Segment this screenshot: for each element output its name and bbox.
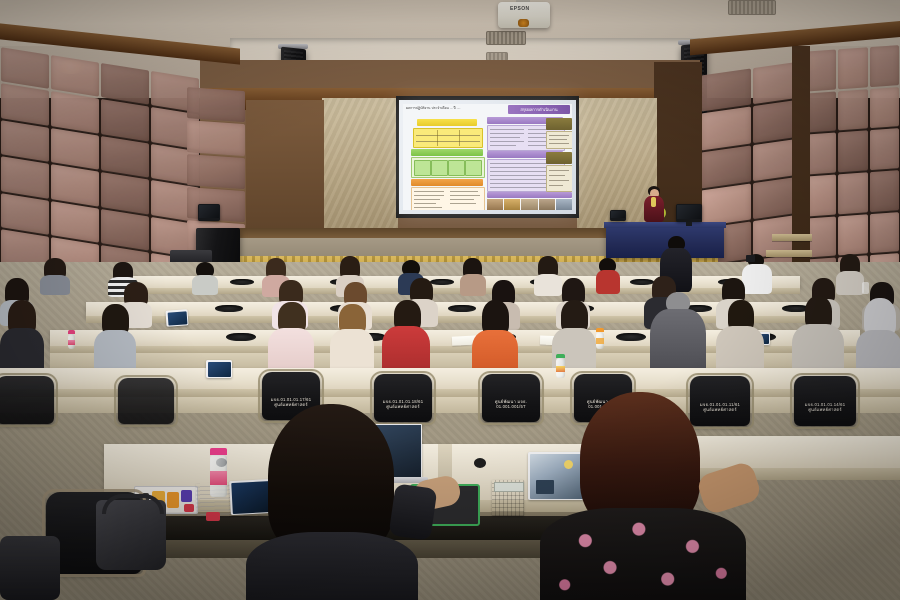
acoustic-panel: [101, 63, 149, 105]
slide-photo: [504, 199, 520, 210]
desk-calculator: [492, 480, 524, 516]
slide-header-text: สรุปผลการดำเนินงาน: [508, 105, 570, 114]
attendee: [40, 258, 70, 292]
foreground-chair-left: [0, 536, 60, 600]
acoustic-panel: [870, 170, 899, 212]
mic-slot: [215, 305, 243, 312]
attendee-headscarf: [856, 298, 900, 378]
red-clip: [184, 504, 194, 512]
acoustic-panel: [838, 47, 867, 89]
chair-tag: มจธ.01.01.01.14/61ศูนย์แพทย์ศาสตร์: [794, 402, 856, 413]
slide-photo: [556, 199, 572, 210]
acoustic-panel: [870, 128, 899, 170]
chair: [118, 378, 174, 424]
attendee-gray-suit: [650, 292, 706, 378]
acoustic-panel: [701, 183, 751, 226]
water-bottle: [210, 455, 227, 497]
projection-screen: ผลการปฏิบัติงาน ประจำเดือน ... ปี .... ส…: [399, 100, 576, 214]
head-table-top: [604, 222, 726, 228]
lecture-hall-photo: EPSON ผลการปฏิบัติงาน ประจำเดือน ... ปี …: [0, 0, 900, 600]
acoustic-panel: [1, 84, 49, 126]
acoustic-panel: [838, 89, 867, 131]
water-bottle: [596, 332, 604, 349]
acoustic-panel: [701, 107, 751, 150]
slide-side-box-2-body: [546, 165, 572, 192]
acoustic-panel: [838, 172, 867, 214]
acoustic-panel: [701, 145, 751, 188]
acoustic-panel: [101, 136, 149, 178]
acoustic-panel: [1, 120, 49, 162]
slide-block-green-title: [411, 149, 483, 156]
acoustic-panel: [870, 45, 899, 87]
mic-hole: [474, 458, 486, 468]
attendee: [716, 300, 764, 376]
acoustic-panel: [101, 172, 149, 214]
acoustic-panel: [51, 201, 99, 243]
acoustic-panel: [187, 120, 245, 155]
slide-photo-title: [487, 192, 572, 198]
sleeve: [389, 483, 438, 540]
attendee: [192, 262, 218, 294]
acoustic-panel: [701, 68, 751, 111]
slide-photo: [487, 199, 503, 210]
acoustic-panel: [51, 128, 99, 170]
slide-block-budget-title: [417, 119, 477, 126]
wall-panel-left-of-screen: [246, 100, 324, 242]
ceiling-projector: EPSON: [498, 2, 550, 28]
acoustic-panel: [1, 193, 49, 235]
aisle-step: [766, 250, 812, 257]
presenter: [643, 186, 665, 222]
attendee: [330, 304, 374, 374]
slide-photo: [539, 199, 555, 210]
acoustic-panel: [51, 164, 99, 206]
projector-lens: [518, 19, 529, 27]
slide-side-box-2: [546, 152, 572, 164]
slide-subtitle: ผลการปฏิบัติงาน ประจำเดือน ... ปี ....: [406, 106, 460, 111]
slide-block-orange-title: [411, 179, 483, 186]
ceiling-vent: [728, 0, 776, 15]
podium-monitor: [610, 210, 626, 221]
mic-slot: [616, 333, 646, 341]
tablet-device: [165, 309, 188, 326]
ceiling-vent: [486, 31, 526, 45]
slide-side-box-1-body: [546, 131, 572, 149]
attendee: [0, 300, 44, 374]
desk-row-2-edge: [86, 316, 826, 323]
acoustic-panel: [807, 49, 836, 91]
presentation-slide: ผลการปฏิบัติงาน ประจำเดือน ... ปี .... ส…: [403, 104, 572, 210]
acoustic-panel: [1, 156, 49, 198]
attendee: [460, 258, 486, 294]
chair-with-asset-tag: มจธ.01.01.01.14/61ศูนย์แพทย์ศาสตร์: [794, 376, 856, 426]
slide-photo: [521, 199, 537, 210]
attendee: [792, 296, 844, 378]
attendee: [472, 300, 518, 378]
water-bottle: [68, 334, 75, 349]
projector-brand-label: EPSON: [510, 6, 530, 12]
acoustic-panel: [870, 87, 899, 129]
stone-column-left: [322, 98, 398, 238]
acoustic-panel: [51, 91, 99, 133]
wall-pillar: [792, 46, 810, 296]
chair: [0, 376, 54, 424]
acoustic-panel: [807, 133, 836, 175]
camera: [746, 255, 755, 262]
slide-header-banner: สรุปผลการดำเนินงาน: [508, 105, 570, 114]
attendee: [596, 258, 620, 294]
bag-strap: [102, 494, 164, 514]
acoustic-panel: [101, 99, 149, 141]
acoustic-panel: [187, 87, 245, 122]
slide-budget-table: [413, 128, 483, 148]
mic-slot: [230, 279, 254, 285]
aisle-step: [772, 234, 812, 241]
presenter-monitor: [676, 204, 702, 222]
attendee: [836, 254, 864, 292]
mic-slot: [226, 333, 256, 341]
stage-monitor-left: [198, 204, 220, 221]
acoustic-panel: [101, 209, 149, 251]
acoustic-panel: [807, 174, 836, 216]
acoustic-panel: [1, 47, 49, 89]
acoustic-panel: [187, 154, 245, 189]
acoustic-panel: [51, 55, 99, 97]
acoustic-panel: [870, 212, 899, 254]
slide-side-box-1: [546, 118, 572, 130]
acoustic-panel: [838, 131, 867, 173]
attendee: [94, 304, 136, 372]
attendee: [268, 302, 314, 374]
acoustic-panel: [838, 214, 867, 256]
chair-with-asset-tag: ศูนย์พัฒนา มจธ.01.001.001/5T: [482, 374, 540, 422]
tablet-device: [206, 360, 232, 378]
acoustic-panel: [807, 91, 836, 133]
chair-tag: ศูนย์พัฒนา มจธ.01.001.001/5T: [482, 399, 540, 410]
attendee: [382, 300, 430, 376]
slide-photo-strip: [487, 199, 572, 210]
slide-green-tiles: [411, 157, 485, 178]
water-bottle: [556, 358, 565, 378]
slide-orange-list: [411, 187, 485, 210]
red-clip: [206, 512, 220, 521]
